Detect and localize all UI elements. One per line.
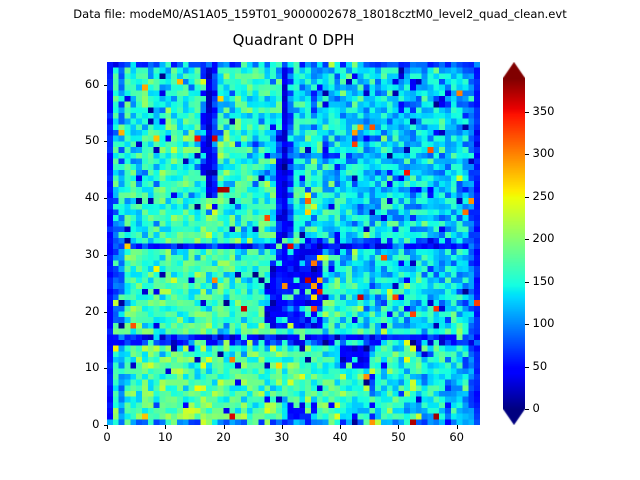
y-tick-label: 30 — [60, 248, 100, 261]
colorbar-tick-label: 250 — [533, 190, 555, 203]
figure-canvas: Data file: modeM0/AS1A05_159T01_90000026… — [0, 0, 640, 480]
y-tick-mark — [104, 312, 108, 313]
colorbar-tick-mark — [525, 112, 529, 113]
y-tick-label: 10 — [60, 361, 100, 374]
x-tick-label: 40 — [320, 431, 360, 444]
data-file-caption: Data file: modeM0/AS1A05_159T01_90000026… — [0, 7, 640, 21]
colorbar-tick-mark — [525, 409, 529, 410]
colorbar-tick-label: 150 — [533, 275, 555, 288]
colorbar-tick-label: 100 — [533, 317, 555, 330]
colorbar-tick-label: 200 — [533, 232, 555, 245]
colorbar-tick-mark — [525, 239, 529, 240]
x-tick-label: 0 — [87, 431, 127, 444]
x-tick-label: 10 — [145, 431, 185, 444]
y-tick-mark — [104, 141, 108, 142]
y-tick-mark — [104, 255, 108, 256]
x-tick-mark — [107, 425, 108, 429]
y-tick-label: 0 — [60, 418, 100, 431]
x-tick-mark — [282, 425, 283, 429]
y-tick-label: 60 — [60, 78, 100, 91]
x-tick-mark — [165, 425, 166, 429]
colorbar-tick-mark — [525, 154, 529, 155]
x-tick-label: 50 — [378, 431, 418, 444]
colorbar-gradient[interactable] — [503, 62, 525, 425]
colorbar-tick-mark — [525, 197, 529, 198]
y-tick-label: 20 — [60, 305, 100, 318]
x-tick-mark — [398, 425, 399, 429]
colorbar-tick-mark — [525, 324, 529, 325]
x-tick-label: 20 — [204, 431, 244, 444]
x-tick-label: 60 — [437, 431, 477, 444]
y-tick-label: 50 — [60, 134, 100, 147]
colorbar-tick-mark — [525, 282, 529, 283]
colorbar-tick-label: 350 — [533, 105, 555, 118]
colorbar[interactable] — [503, 62, 525, 425]
heatmap-axes[interactable] — [107, 62, 480, 425]
colorbar-tick-label: 0 — [533, 402, 540, 415]
plot-title: Quadrant 0 DPH — [107, 31, 480, 50]
y-tick-mark — [104, 368, 108, 369]
y-tick-mark — [104, 425, 108, 426]
colorbar-tick-label: 50 — [533, 360, 548, 373]
x-tick-mark — [224, 425, 225, 429]
colorbar-tick-mark — [525, 367, 529, 368]
x-tick-mark — [457, 425, 458, 429]
x-tick-mark — [340, 425, 341, 429]
y-tick-label: 40 — [60, 191, 100, 204]
y-tick-mark — [104, 198, 108, 199]
colorbar-tick-label: 300 — [533, 147, 555, 160]
y-tick-mark — [104, 85, 108, 86]
heatmap-image[interactable] — [107, 62, 480, 425]
x-tick-label: 30 — [262, 431, 302, 444]
